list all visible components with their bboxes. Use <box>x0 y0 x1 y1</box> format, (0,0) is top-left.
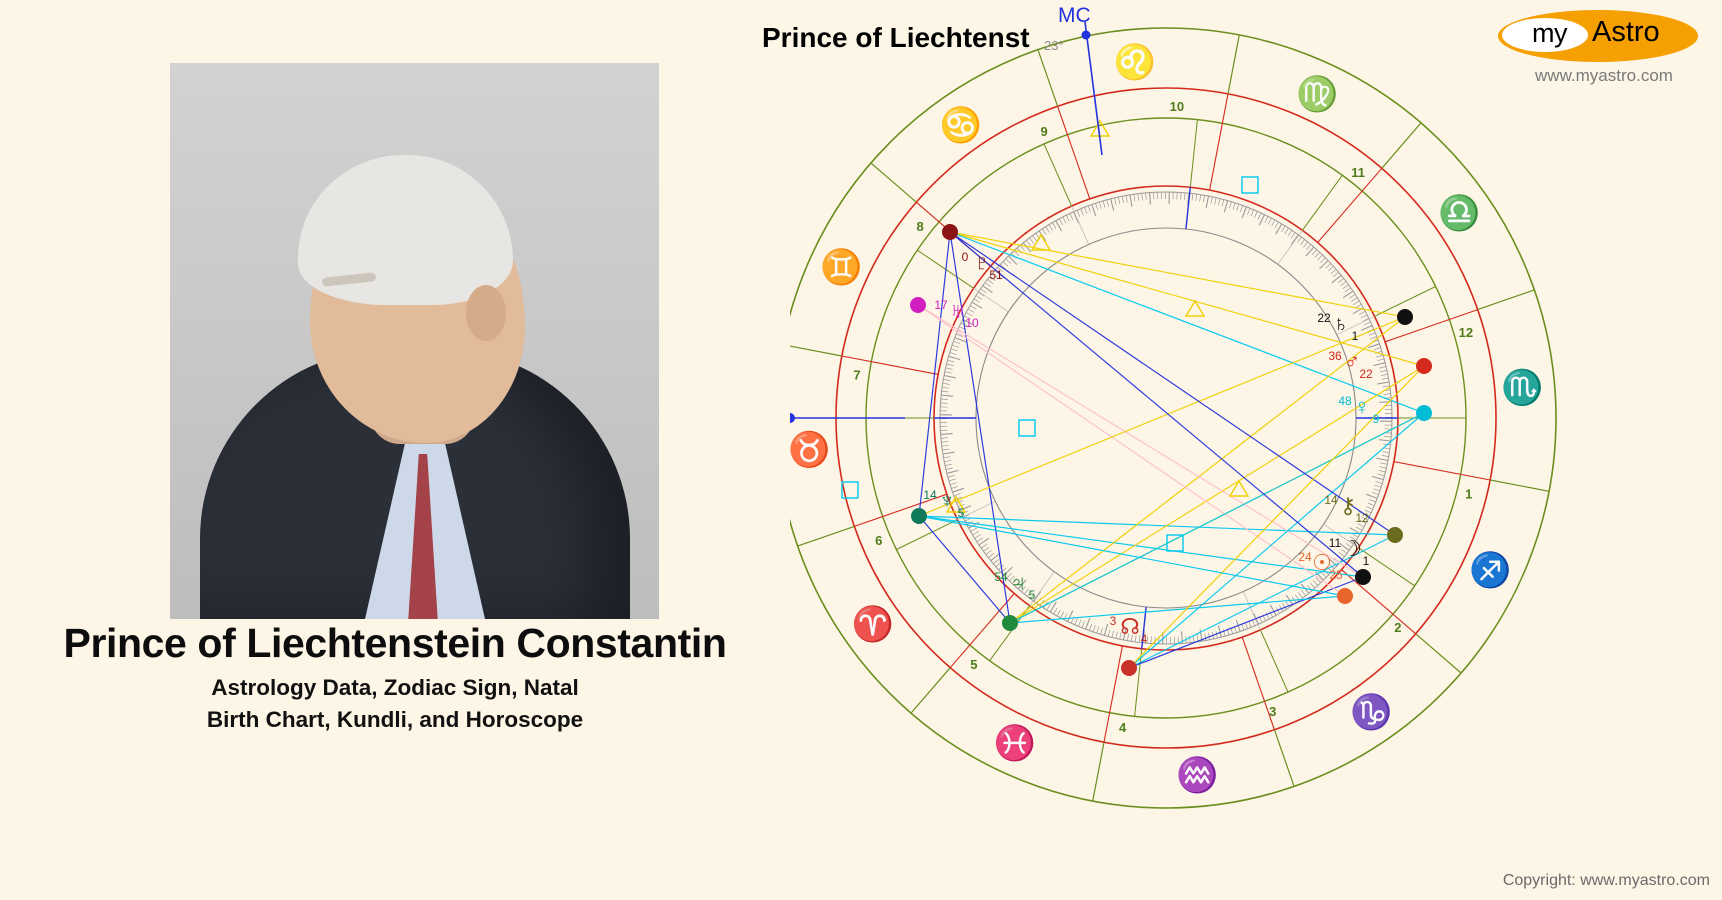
degree-tick <box>1192 194 1193 201</box>
degree-tick <box>1382 378 1389 379</box>
aspect-line <box>950 232 1424 366</box>
planet-dot-chiron <box>1387 527 1403 543</box>
degree-tick <box>1122 196 1123 203</box>
sign-divider <box>871 163 916 202</box>
degree-tick <box>1070 214 1073 220</box>
degree-tick <box>1369 499 1376 502</box>
planet-minute-uranus: 10 <box>965 316 979 330</box>
degree-tick <box>1218 626 1221 638</box>
degree-tick <box>1046 227 1050 233</box>
planet-glyph-pluto: ♇ <box>974 250 991 275</box>
degree-tick <box>1255 211 1258 217</box>
sign-divider <box>1228 35 1239 94</box>
planet-dot-moon <box>1355 569 1371 585</box>
planet-glyph-northnode: ☊ <box>1120 614 1140 639</box>
degree-tick <box>1196 194 1197 201</box>
planet-dot-pluto <box>942 224 958 240</box>
degree-tick <box>1380 467 1387 469</box>
degree-tick <box>1059 219 1062 225</box>
degree-tick <box>1373 489 1380 491</box>
degree-tick <box>1377 359 1384 361</box>
degree-tick <box>1146 193 1147 200</box>
degree-tick <box>1375 485 1382 487</box>
aspect-square-marker <box>1167 535 1183 551</box>
degree-tick <box>944 460 951 461</box>
degree-tick <box>1320 258 1325 263</box>
degree-tick <box>946 468 953 470</box>
degree-tick <box>1218 199 1220 206</box>
planet-minute-sun: 25 <box>1329 568 1343 582</box>
degree-tick <box>1112 631 1114 638</box>
degree-tick <box>973 531 979 535</box>
degree-tick <box>1369 333 1376 336</box>
degree-tick <box>1116 632 1118 639</box>
degree-tick <box>1320 261 1329 269</box>
degree-tick <box>1300 240 1304 246</box>
degree-tick <box>1078 620 1081 627</box>
degree-tick <box>948 475 955 477</box>
house-number-10: 10 <box>1170 99 1184 114</box>
degree-tick <box>1356 527 1362 531</box>
planet-degree-jupiter: 54 <box>994 570 1008 584</box>
degree-tick <box>1047 604 1051 610</box>
degree-tick <box>981 544 987 548</box>
degree-tick <box>1351 298 1357 302</box>
degree-tick <box>1103 201 1105 208</box>
planet-minute-northnode: 4 <box>1141 632 1148 646</box>
planet-degree-mars: 36 <box>1328 349 1342 363</box>
planet-dot-neptune <box>911 508 927 524</box>
sign-divider <box>1416 634 1461 673</box>
aspect-trine-marker <box>1230 481 1248 496</box>
degree-tick <box>1030 238 1034 244</box>
degree-tick <box>1118 197 1119 204</box>
zodiac-glyph-libra[interactable]: ♎ <box>1438 194 1480 233</box>
degree-tick <box>1382 455 1389 456</box>
degree-tick <box>1075 618 1078 624</box>
degree-tick <box>1331 269 1336 274</box>
degree-tick <box>1291 233 1295 239</box>
degree-tick <box>1068 611 1073 622</box>
sign-divider <box>1093 742 1104 801</box>
degree-tick <box>944 376 956 378</box>
planet-dot-northnode <box>1121 660 1137 676</box>
planet-minute-neptune: 5 <box>958 506 965 520</box>
degree-tick <box>1115 198 1117 205</box>
degree-tick <box>1222 200 1224 207</box>
planet-glyph-uranus: ♅ <box>950 298 967 323</box>
degree-tick <box>1381 374 1388 375</box>
degree-tick <box>1376 355 1383 357</box>
portrait-ear <box>466 285 506 341</box>
mc-label: MC <box>1058 4 1091 27</box>
planet-minute-pluto: 51 <box>989 268 1003 282</box>
degree-tick <box>1130 195 1132 207</box>
zodiac-glyph-taurus[interactable]: ♉ <box>790 430 831 469</box>
degree-tick <box>945 464 952 465</box>
degree-tick <box>1301 590 1305 596</box>
planet-minute-venus: 9 <box>1373 412 1380 426</box>
degree-tick <box>993 559 998 564</box>
planet-dot-mars <box>1416 358 1432 374</box>
house-number-7: 7 <box>853 368 860 383</box>
degree-tick <box>941 442 948 443</box>
planet-glyph-jupiter: ♃ <box>1010 570 1027 595</box>
degree-tick <box>1206 196 1208 208</box>
planet-glyph-neptune: ♆ <box>939 488 956 513</box>
degree-tick <box>1380 463 1387 464</box>
zodiac-glyph-cancer[interactable]: ♋ <box>940 106 982 145</box>
degree-tick <box>981 289 987 293</box>
sign-sector-line <box>1394 462 1490 480</box>
degree-tick <box>1097 627 1099 634</box>
degree-tick <box>1052 223 1056 229</box>
degree-tick <box>1242 207 1246 218</box>
house-number-3: 3 <box>1269 704 1276 719</box>
planet-glyph-venus: ♀ <box>1354 394 1371 419</box>
degree-tick <box>1084 207 1087 214</box>
degree-tick <box>1215 198 1217 205</box>
degree-tick <box>1233 203 1235 210</box>
sign-sector-line <box>1210 94 1228 190</box>
degree-tick <box>1042 229 1046 235</box>
degree-tick <box>1285 228 1289 234</box>
natal-chart-wheel[interactable]: ♌♋♊♉♈♓♒♑♐♏♎♍ 109876543211211 ♇051♅1710♆1… <box>790 0 1722 900</box>
sign-divider <box>1382 123 1421 168</box>
degree-tick <box>1384 436 1391 437</box>
degree-tick <box>952 345 959 347</box>
degree-tick <box>1318 255 1323 260</box>
aspect-line <box>918 305 1345 596</box>
degree-tick <box>1224 201 1227 213</box>
planet-minute-mars: 22 <box>1359 367 1373 381</box>
degree-tick <box>1374 348 1381 350</box>
house-number-12: 12 <box>1459 325 1473 340</box>
zodiac-glyph-aquarius[interactable]: ♒ <box>1176 756 1218 795</box>
asc-dot <box>790 413 795 423</box>
house-number-5: 5 <box>970 657 977 672</box>
degree-tick <box>984 547 990 551</box>
degree-tick <box>1306 244 1311 249</box>
degree-tick <box>1150 193 1151 205</box>
degree-tick <box>1275 222 1279 228</box>
planet-minute-chiron: 12 <box>1355 511 1369 525</box>
aspect-line <box>919 232 950 516</box>
degree-tick <box>1303 242 1307 248</box>
degree-tick <box>944 457 951 458</box>
sign-divider <box>911 668 950 713</box>
portrait-photo <box>170 63 659 619</box>
degree-tick <box>1361 326 1372 331</box>
degree-tick <box>1101 628 1103 635</box>
house-cusp-inner-line <box>1278 230 1303 264</box>
degree-tick <box>1364 322 1370 325</box>
aspect-square-marker <box>1242 177 1258 193</box>
degree-tick <box>1205 634 1206 641</box>
sign-divider <box>798 526 855 546</box>
degree-tick <box>1089 624 1091 631</box>
degree-tick <box>1313 580 1318 585</box>
page-subtitle: Astrology Data, Zodiac Sign, Natal Birth… <box>0 672 790 736</box>
house-number-9: 9 <box>1040 124 1047 139</box>
degree-tick <box>1368 503 1375 506</box>
degree-tick <box>1093 625 1095 632</box>
degree-tick <box>1099 202 1101 209</box>
house-cusp-line <box>1302 175 1342 230</box>
degree-tick <box>941 395 953 396</box>
aspect-line <box>950 232 1405 317</box>
degree-tick <box>1247 208 1250 215</box>
degree-tick <box>946 368 953 370</box>
planet-degree-uranus: 17 <box>934 298 948 312</box>
degree-tick <box>1061 612 1064 618</box>
house-number-2: 2 <box>1394 620 1401 635</box>
aspect-line <box>918 305 1363 577</box>
degree-tick <box>1297 237 1301 243</box>
house-cusp-line <box>1190 120 1197 188</box>
degree-tick <box>943 379 950 380</box>
planet-degree-sun: 24 <box>1298 550 1312 564</box>
degree-tick <box>941 403 948 404</box>
zodiac-glyph-pisces[interactable]: ♓ <box>994 724 1036 763</box>
degree-tick <box>1343 285 1349 289</box>
degree-tick <box>1074 212 1079 223</box>
degree-tick <box>1066 215 1069 221</box>
aspect-line <box>950 232 1424 413</box>
degree-tick <box>1088 206 1090 213</box>
degree-tick <box>1288 230 1292 236</box>
degree-tick <box>1259 215 1264 226</box>
aspect-line <box>950 232 1010 623</box>
subtitle-line-2: Birth Chart, Kundli, and Horoscope <box>0 704 790 736</box>
sign-divider <box>790 345 842 356</box>
planet-degree-chiron: 14 <box>1324 493 1338 507</box>
chart-svg[interactable]: ♌♋♊♉♈♓♒♑♐♏♎♍ 109876543211211 ♇051♅1710♆1… <box>790 0 1722 900</box>
planet-dot-uranus <box>910 297 926 313</box>
planet-dot-venus <box>1416 405 1432 421</box>
degree-tick <box>1229 202 1231 209</box>
sign-divider <box>1490 480 1549 491</box>
degree-tick <box>942 445 949 446</box>
degree-tick <box>1108 630 1110 637</box>
degree-tick <box>1382 452 1389 453</box>
degree-tick <box>1312 250 1317 255</box>
degree-tick <box>1338 278 1344 282</box>
house-cusp-line <box>1260 630 1288 692</box>
degree-tick <box>985 283 991 287</box>
planet-dot-saturn <box>1397 309 1413 325</box>
degree-tick <box>1063 217 1066 223</box>
planet-degree-neptune: 14 <box>923 488 937 502</box>
degree-tick <box>1134 194 1135 201</box>
planet-glyph-chiron: ⚷ <box>1340 493 1356 518</box>
degree-tick <box>1092 205 1096 216</box>
degree-tick <box>953 341 960 343</box>
degree-tick <box>1086 618 1090 629</box>
planet-degree-venus: 48 <box>1338 394 1352 408</box>
degree-tick <box>1272 220 1275 226</box>
zodiac-glyph-aries[interactable]: ♈ <box>852 604 894 643</box>
degree-tick <box>1181 193 1182 200</box>
degree-tick <box>942 391 949 392</box>
sign-divider <box>1038 50 1058 107</box>
degree-tick <box>1376 458 1388 460</box>
degree-tick <box>1251 210 1254 217</box>
degree-scale-ring <box>940 192 1392 644</box>
degree-tick <box>1049 225 1053 231</box>
degree-tick <box>947 470 959 473</box>
degree-tick <box>942 387 949 388</box>
degree-tick <box>1054 608 1058 614</box>
degree-tick <box>1379 440 1391 441</box>
degree-tick <box>1203 195 1204 202</box>
degree-tick <box>950 353 957 355</box>
degree-tick <box>1298 593 1302 599</box>
degree-tick <box>1374 363 1386 366</box>
degree-tick <box>941 434 953 435</box>
planet-degree-saturn: 22 <box>1317 311 1331 325</box>
degree-tick <box>1326 263 1331 268</box>
degree-tick <box>1057 610 1060 616</box>
degree-tick <box>1379 367 1386 369</box>
degree-tick <box>1138 194 1139 201</box>
degree-tick <box>1383 386 1390 387</box>
subtitle-line-1: Astrology Data, Zodiac Sign, Natal <box>0 672 790 704</box>
planet-dot-sun <box>1337 588 1353 604</box>
zodiac-glyph-virgo[interactable]: ♍ <box>1296 75 1338 114</box>
house-number-1: 1 <box>1465 487 1472 502</box>
degree-tick <box>1341 282 1347 286</box>
degree-tick <box>1126 196 1127 203</box>
degree-tick <box>971 528 977 532</box>
degree-tick <box>1379 470 1386 472</box>
degree-tick <box>975 535 981 539</box>
house-cusp-line <box>896 520 957 550</box>
degree-tick <box>947 364 954 366</box>
planet-dot-jupiter <box>1002 615 1018 631</box>
degree-tick <box>949 356 961 359</box>
sign-sector-line <box>950 594 1014 668</box>
degree-tick <box>1077 210 1080 217</box>
house-cusp-line <box>1044 144 1072 206</box>
degree-tick <box>1378 474 1385 476</box>
planet-degree-moon: 11 <box>1329 536 1342 550</box>
zodiac-glyph-sagittarius[interactable]: ♐ <box>1469 550 1511 589</box>
degree-tick <box>1349 294 1355 298</box>
degree-tick <box>1082 621 1085 628</box>
planet-degree-pluto: 0 <box>962 250 969 264</box>
aspect-line <box>919 317 1405 516</box>
degree-tick <box>1282 226 1286 232</box>
degree-tick <box>950 483 957 485</box>
degree-tick <box>974 299 980 303</box>
house-number-8: 8 <box>916 219 923 234</box>
aspect-line <box>950 232 1395 535</box>
degree-tick <box>1142 193 1143 200</box>
sign-divider <box>1478 290 1535 310</box>
degree-tick <box>1033 236 1037 242</box>
degree-tick <box>1376 481 1383 483</box>
degree-tick <box>1026 240 1030 246</box>
degree-tick <box>1366 507 1372 510</box>
degree-tick <box>1353 301 1359 305</box>
planet-minute-saturn: 1 <box>1352 329 1359 343</box>
degree-tick <box>1384 394 1391 395</box>
degree-tick <box>1377 382 1389 384</box>
degree-tick <box>1006 259 1011 264</box>
degree-tick <box>988 553 994 557</box>
aspect-markers <box>842 121 1258 551</box>
house-number-11: 11 <box>1351 165 1365 180</box>
degree-tick <box>968 309 974 312</box>
sign-divider <box>1274 730 1294 787</box>
degree-tick <box>1211 197 1212 204</box>
degree-tick <box>1258 213 1261 219</box>
zodiac-glyph-capricorn[interactable]: ♑ <box>1350 692 1392 731</box>
sign-sector-line <box>1318 168 1382 242</box>
degree-tick <box>978 292 984 296</box>
degree-tick <box>1333 272 1338 277</box>
degree-tick <box>1151 637 1152 644</box>
degree-tick <box>951 349 958 351</box>
degree-tick <box>1081 209 1084 216</box>
degree-tick <box>1361 315 1367 318</box>
degree-tick <box>1240 205 1242 212</box>
degree-tick <box>1345 288 1351 292</box>
left-info-panel: Prince of Liechtenstein Constantin Astro… <box>0 0 790 900</box>
degree-tick <box>1237 204 1239 211</box>
degree-tick <box>1265 216 1268 222</box>
planet-minute-moon: 1 <box>1363 554 1370 568</box>
degree-tick <box>955 338 966 342</box>
degree-tick <box>941 399 948 400</box>
mc-dot <box>1082 31 1091 40</box>
degree-tick <box>1184 193 1185 200</box>
degree-tick <box>986 550 992 554</box>
degree-tick <box>1328 266 1333 271</box>
degree-tick <box>1372 492 1379 494</box>
degree-tick <box>945 372 952 373</box>
planet-glyph-mars: ♂ <box>1344 349 1361 374</box>
degree-ticks <box>940 192 1392 644</box>
aspect-square-marker <box>1019 420 1035 436</box>
planet-degree-northnode: 3 <box>1110 614 1117 628</box>
degree-tick <box>1366 494 1377 498</box>
degree-tick <box>949 479 956 481</box>
degree-tick <box>1003 262 1008 267</box>
degree-tick <box>941 438 948 439</box>
zodiac-glyph-gemini[interactable]: ♊ <box>820 248 862 287</box>
degree-tick <box>1111 199 1114 211</box>
degree-tick <box>970 306 976 310</box>
degree-tick <box>977 538 983 542</box>
degree-tick <box>976 296 982 300</box>
degree-tick <box>1096 203 1098 210</box>
mc-line <box>1085 22 1102 155</box>
zodiac-glyph-scorpio[interactable]: ♏ <box>1501 368 1543 407</box>
planet-glyph-moon: ☽ <box>1342 536 1362 561</box>
planet-glyph-saturn: ♄ <box>1333 311 1350 336</box>
zodiac-glyph-leo[interactable]: ♌ <box>1114 42 1156 81</box>
planet-minute-jupiter: 5 <box>1029 588 1036 602</box>
degree-tick <box>1380 370 1387 371</box>
degree-tick <box>1200 195 1201 202</box>
degree-tick <box>1104 624 1107 636</box>
degree-tick <box>1372 476 1384 479</box>
degree-tick <box>1268 218 1271 224</box>
house-number-6: 6 <box>875 533 882 548</box>
degree-tick <box>1107 200 1109 207</box>
